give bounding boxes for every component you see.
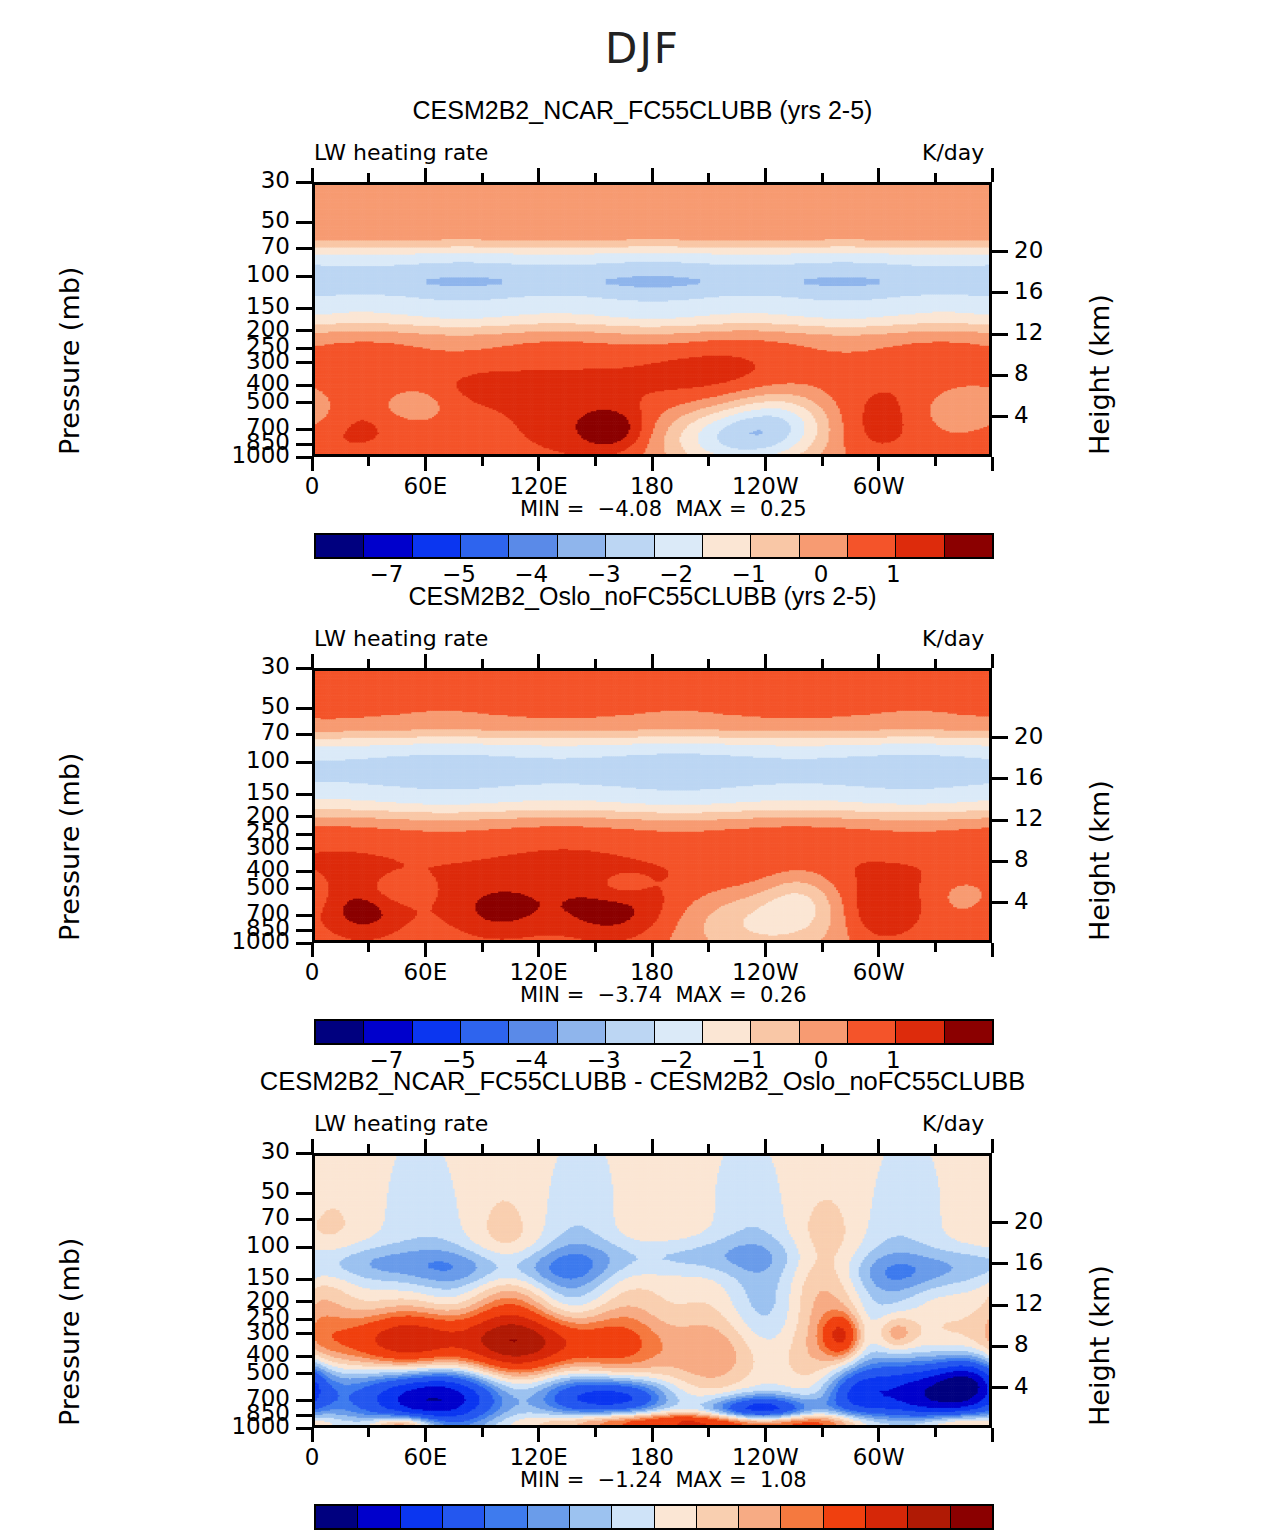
colorbar-segment	[358, 1506, 400, 1528]
x-tick	[481, 659, 484, 668]
y2-tick	[992, 333, 1008, 336]
colorbar-segment	[866, 1506, 908, 1528]
y-tick	[296, 707, 312, 710]
colorbar-segment	[751, 535, 799, 557]
min-value: −4.08	[598, 497, 662, 521]
x-tick	[877, 457, 880, 471]
x-tick	[877, 168, 880, 182]
x-tick	[311, 943, 314, 957]
y-tick-label: 30	[192, 1138, 290, 1164]
x-tick	[991, 457, 994, 471]
x-tick-label: 0	[252, 1444, 372, 1470]
min-prefix: MIN =	[520, 497, 584, 521]
x-tick	[877, 1139, 880, 1153]
y2-tick	[992, 1386, 1008, 1389]
min-value: −3.74	[598, 983, 662, 1007]
x-tick	[651, 654, 654, 668]
y-tick-label: 500	[192, 388, 290, 414]
contour-plot-1	[312, 182, 992, 457]
colorbar-segment	[606, 1021, 654, 1043]
x-tick-label: 120W	[705, 473, 825, 499]
y-tick	[296, 1414, 312, 1417]
colorbar-segment	[739, 1506, 781, 1528]
y-tick-label: 30	[192, 167, 290, 193]
colorbar-segment	[655, 1506, 697, 1528]
min-max-readout-1: MIN = −4.08 MAX = 0.25	[520, 497, 807, 521]
y2-tick	[992, 860, 1008, 863]
x-tick	[537, 654, 540, 668]
colorbar-segment	[413, 535, 461, 557]
x-tick-label: 180	[592, 473, 712, 499]
x-tick	[764, 943, 767, 957]
colorbar-segment	[896, 535, 944, 557]
x-tick	[934, 943, 937, 952]
y-tick	[296, 384, 312, 387]
y2-tick	[992, 1304, 1008, 1307]
x-tick	[537, 1428, 540, 1442]
y-tick	[296, 887, 312, 890]
x-tick-label: 120E	[479, 1444, 599, 1470]
x-tick	[594, 943, 597, 952]
x-tick	[651, 1428, 654, 1442]
x-tick	[991, 168, 994, 182]
y-axis-title-1: Pressure (mb)	[54, 267, 85, 455]
min-max-readout-2: MIN = −3.74 MAX = 0.26	[520, 983, 807, 1007]
units-label-3: K/day	[922, 1111, 984, 1136]
colorbar-segment	[945, 535, 992, 557]
colorbar-segment	[655, 535, 703, 557]
colorbar-segment	[824, 1506, 866, 1528]
colorbar-segment	[800, 1021, 848, 1043]
x-tick	[594, 173, 597, 182]
x-tick	[707, 659, 710, 668]
y2-tick-label: 8	[1014, 360, 1029, 386]
y-tick	[296, 1218, 312, 1221]
y-tick-label: 100	[192, 747, 290, 773]
x-tick-label: 60W	[819, 473, 939, 499]
colorbar-segment	[848, 1021, 896, 1043]
contour-plot-3	[312, 1153, 992, 1428]
y-tick	[296, 221, 312, 224]
units-label-1: K/day	[922, 140, 984, 165]
panel-title-2: CESM2B2_Oslo_noFC55CLUBB (yrs 2-5)	[0, 582, 1285, 611]
y-tick-label: 100	[192, 1232, 290, 1258]
y-tick	[296, 1300, 312, 1303]
x-tick	[707, 173, 710, 182]
min-prefix: MIN =	[520, 1468, 584, 1492]
y-axis-title-2: Pressure (mb)	[54, 753, 85, 941]
y2-tick-label: 8	[1014, 1331, 1029, 1357]
y-tick	[296, 275, 312, 278]
units-label-2: K/day	[922, 626, 984, 651]
x-tick	[481, 943, 484, 952]
y-tick	[296, 1246, 312, 1249]
x-tick	[367, 173, 370, 182]
max-value: 1.08	[760, 1468, 807, 1492]
colorbar-2	[314, 1019, 994, 1045]
x-tick	[707, 1144, 710, 1153]
colorbar-segment	[316, 1506, 358, 1528]
y-tick-label: 1000	[192, 1413, 290, 1439]
y-tick	[296, 401, 312, 404]
y-tick	[296, 247, 312, 250]
x-tick	[764, 168, 767, 182]
colorbar-segment	[461, 535, 509, 557]
y2-tick	[992, 1221, 1008, 1224]
y2-axis-title-3: Height (km)	[1084, 1265, 1115, 1426]
x-tick	[651, 168, 654, 182]
y2-tick-label: 12	[1014, 1290, 1043, 1316]
y-tick-label: 100	[192, 261, 290, 287]
x-tick	[821, 173, 824, 182]
x-tick	[991, 1139, 994, 1153]
x-tick	[877, 1428, 880, 1442]
variable-label-3: LW heating rate	[314, 1111, 488, 1136]
y-tick	[296, 815, 312, 818]
x-tick	[934, 1428, 937, 1437]
colorbar-segment	[509, 1021, 557, 1043]
x-tick	[934, 457, 937, 466]
x-tick-label: 180	[592, 959, 712, 985]
colorbar-segment	[558, 1021, 606, 1043]
y-tick-label: 70	[192, 719, 290, 745]
y-tick	[296, 428, 312, 431]
y2-tick	[992, 736, 1008, 739]
y-tick	[296, 443, 312, 446]
x-tick	[594, 457, 597, 466]
colorbar-segment	[703, 1021, 751, 1043]
max-value: 0.26	[760, 983, 807, 1007]
y-tick-label: 30	[192, 653, 290, 679]
y-tick-label: 500	[192, 874, 290, 900]
colorbar-segment	[945, 1021, 992, 1043]
x-tick	[764, 1428, 767, 1442]
x-tick	[367, 943, 370, 952]
min-max-readout-3: MIN = −1.24 MAX = 1.08	[520, 1468, 807, 1492]
x-tick	[594, 659, 597, 668]
colorbar-segment	[848, 535, 896, 557]
y2-tick-label: 16	[1014, 1249, 1043, 1275]
x-tick	[424, 1139, 427, 1153]
x-tick	[821, 457, 824, 466]
x-tick	[481, 1428, 484, 1437]
y-tick	[296, 1318, 312, 1321]
min-prefix: MIN =	[520, 983, 584, 1007]
x-tick	[764, 1139, 767, 1153]
y2-tick	[992, 415, 1008, 418]
y2-axis-title-2: Height (km)	[1084, 780, 1115, 941]
colorbar-segment	[908, 1506, 950, 1528]
y2-tick	[992, 250, 1008, 253]
y-tick	[296, 833, 312, 836]
colorbar-segment	[413, 1021, 461, 1043]
max-prefix: MAX =	[675, 983, 746, 1007]
y2-tick-label: 12	[1014, 805, 1043, 831]
x-tick	[481, 457, 484, 466]
x-tick	[481, 1144, 484, 1153]
x-tick	[764, 654, 767, 668]
y2-tick-label: 4	[1014, 1373, 1029, 1399]
y2-tick	[992, 1345, 1008, 1348]
y-tick-label: 50	[192, 207, 290, 233]
x-tick	[537, 457, 540, 471]
x-tick	[651, 1139, 654, 1153]
colorbar-segment	[316, 1021, 364, 1043]
x-tick	[367, 1144, 370, 1153]
x-tick	[311, 1428, 314, 1442]
y2-tick-label: 8	[1014, 846, 1029, 872]
y-tick-label: 70	[192, 1204, 290, 1230]
colorbar-1	[314, 533, 994, 559]
colorbar-segment	[800, 535, 848, 557]
y2-tick-label: 16	[1014, 764, 1043, 790]
y-tick-label: 1000	[192, 928, 290, 954]
colorbar-segment	[485, 1506, 527, 1528]
y-tick-label: 50	[192, 1178, 290, 1204]
x-tick	[821, 943, 824, 952]
y2-tick-label: 20	[1014, 1208, 1043, 1234]
x-tick	[821, 659, 824, 668]
x-tick-label: 120E	[479, 959, 599, 985]
panel-title-1: CESM2B2_NCAR_FC55CLUBB (yrs 2-5)	[0, 96, 1285, 125]
colorbar-segment	[703, 535, 751, 557]
colorbar-segment	[509, 535, 557, 557]
x-tick	[424, 457, 427, 471]
colorbar-segment	[951, 1506, 992, 1528]
colorbar-segment	[558, 535, 606, 557]
y2-tick-label: 12	[1014, 319, 1043, 345]
x-tick-label: 0	[252, 959, 372, 985]
contour-plot-2	[312, 668, 992, 943]
colorbar-segment	[655, 1021, 703, 1043]
y2-tick	[992, 374, 1008, 377]
x-tick-label: 0	[252, 473, 372, 499]
x-tick-label: 120W	[705, 1444, 825, 1470]
x-tick-label: 60W	[819, 1444, 939, 1470]
min-value: −1.24	[598, 1468, 662, 1492]
x-tick	[934, 659, 937, 668]
colorbar-segment	[751, 1021, 799, 1043]
y-tick-label: 1000	[192, 442, 290, 468]
y-tick-label: 50	[192, 693, 290, 719]
x-tick-label: 60E	[365, 473, 485, 499]
x-tick	[991, 654, 994, 668]
x-tick	[651, 943, 654, 957]
y-tick	[296, 1332, 312, 1335]
y-tick	[296, 929, 312, 932]
x-tick	[821, 1144, 824, 1153]
x-tick	[877, 943, 880, 957]
y-tick-label: 70	[192, 233, 290, 259]
y2-tick	[992, 777, 1008, 780]
y-tick	[296, 347, 312, 350]
y-tick	[296, 847, 312, 850]
x-tick	[481, 173, 484, 182]
x-tick	[594, 1144, 597, 1153]
variable-label-2: LW heating rate	[314, 626, 488, 651]
x-tick	[367, 1428, 370, 1437]
x-tick	[311, 1139, 314, 1153]
max-prefix: MAX =	[675, 1468, 746, 1492]
x-tick	[991, 1428, 994, 1442]
colorbar-3	[314, 1504, 994, 1530]
y2-tick-label: 20	[1014, 237, 1043, 263]
y2-tick-label: 20	[1014, 723, 1043, 749]
y2-tick	[992, 291, 1008, 294]
x-tick-label: 120E	[479, 473, 599, 499]
y-tick	[296, 1192, 312, 1195]
y-tick	[296, 733, 312, 736]
colorbar-segment	[781, 1506, 823, 1528]
x-tick-label: 60E	[365, 959, 485, 985]
colorbar-segment	[443, 1506, 485, 1528]
y-axis-title-3: Pressure (mb)	[54, 1238, 85, 1426]
y-tick	[296, 761, 312, 764]
x-tick	[311, 654, 314, 668]
colorbar-segment	[364, 1021, 412, 1043]
y-tick	[296, 914, 312, 917]
variable-label-1: LW heating rate	[314, 140, 488, 165]
x-tick	[424, 168, 427, 182]
x-tick	[424, 1428, 427, 1442]
y2-tick-label: 4	[1014, 888, 1029, 914]
y-tick	[296, 307, 312, 310]
y-tick	[296, 793, 312, 796]
colorbar-segment	[697, 1506, 739, 1528]
x-tick	[651, 457, 654, 471]
x-tick	[877, 654, 880, 668]
x-tick	[707, 943, 710, 952]
x-tick	[537, 943, 540, 957]
x-tick-label: 180	[592, 1444, 712, 1470]
colorbar-segment	[606, 535, 654, 557]
y-tick-label: 500	[192, 1359, 290, 1385]
y2-tick-label: 16	[1014, 278, 1043, 304]
colorbar-segment	[316, 535, 364, 557]
x-tick	[367, 457, 370, 466]
x-tick	[934, 173, 937, 182]
x-tick	[707, 1428, 710, 1437]
x-tick	[367, 659, 370, 668]
x-tick	[311, 168, 314, 182]
y-tick	[296, 1278, 312, 1281]
x-tick	[311, 457, 314, 471]
y2-axis-title-1: Height (km)	[1084, 294, 1115, 455]
x-tick	[424, 943, 427, 957]
y2-tick	[992, 1262, 1008, 1265]
y-tick	[296, 361, 312, 364]
x-tick-label: 60E	[365, 1444, 485, 1470]
colorbar-segment	[612, 1506, 654, 1528]
x-tick	[821, 1428, 824, 1437]
y-tick	[296, 1372, 312, 1375]
y2-tick-label: 4	[1014, 402, 1029, 428]
y-tick	[296, 1355, 312, 1358]
max-value: 0.25	[760, 497, 807, 521]
x-tick	[424, 654, 427, 668]
x-tick	[764, 457, 767, 471]
y2-tick	[992, 819, 1008, 822]
colorbar-segment	[461, 1021, 509, 1043]
colorbar-segment	[896, 1021, 944, 1043]
y-tick	[296, 1399, 312, 1402]
season-title: DJF	[0, 24, 1285, 73]
colorbar-segment	[401, 1506, 443, 1528]
x-tick	[537, 168, 540, 182]
x-tick	[537, 1139, 540, 1153]
colorbar-segment	[570, 1506, 612, 1528]
x-tick	[934, 1144, 937, 1153]
y-tick	[296, 870, 312, 873]
x-tick-label: 120W	[705, 959, 825, 985]
colorbar-segment	[364, 535, 412, 557]
colorbar-segment	[528, 1506, 570, 1528]
x-tick-label: 60W	[819, 959, 939, 985]
x-tick	[707, 457, 710, 466]
max-prefix: MAX =	[675, 497, 746, 521]
y2-tick	[992, 901, 1008, 904]
x-tick	[991, 943, 994, 957]
x-tick	[594, 1428, 597, 1437]
panel-title-3: CESM2B2_NCAR_FC55CLUBB - CESM2B2_Oslo_no…	[0, 1067, 1285, 1096]
y-tick	[296, 329, 312, 332]
